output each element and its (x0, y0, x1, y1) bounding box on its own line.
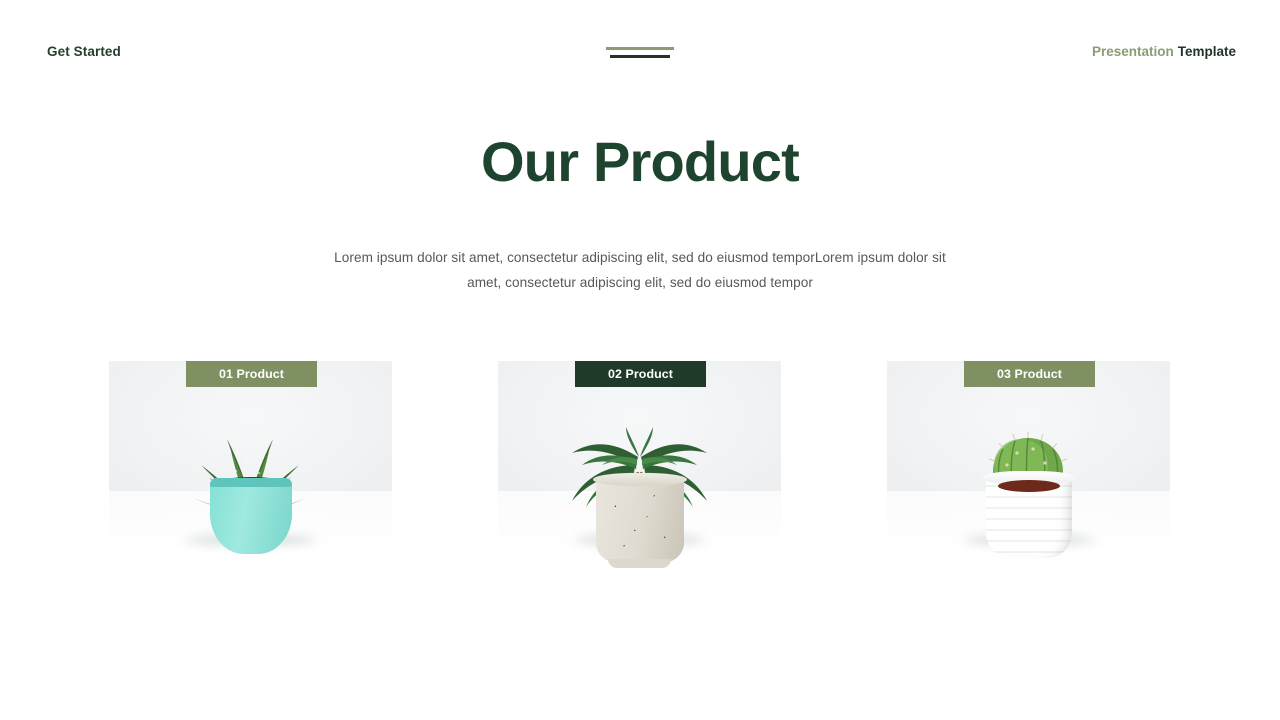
product-image-03: 03 Product (887, 361, 1170, 585)
product-badge-01[interactable]: 01 Product (186, 361, 317, 387)
double-line-divider-icon (606, 47, 674, 58)
product-badge-03[interactable]: 03 Product (964, 361, 1095, 387)
brand-word-presentation: Presentation (1092, 44, 1174, 59)
brand-wordmark: PresentationTemplate (1092, 44, 1236, 59)
product-badge-02[interactable]: 02 Product (575, 361, 706, 387)
mint-pot (210, 478, 292, 554)
slide-our-product: Get Started PresentationTemplate Our Pro… (0, 0, 1280, 720)
divider-line-top (606, 47, 674, 50)
pot-foot (608, 559, 671, 568)
slide-header: Get Started PresentationTemplate (0, 0, 1280, 104)
exposed-roots (603, 467, 677, 493)
subtitle-line-2: amet, consectetur adipiscing elit, sed d… (280, 270, 1000, 295)
subtitle-line-1: Lorem ipsum dolor sit amet, consectetur … (280, 245, 1000, 270)
page-subtitle: Lorem ipsum dolor sit amet, consectetur … (280, 245, 1000, 295)
product-image-01: 01 Product (109, 361, 392, 585)
product-card-02[interactable]: 02 Product (498, 361, 781, 585)
product-card-01[interactable]: 01 Product (109, 361, 392, 585)
product-image-02: 02 Product (498, 361, 781, 585)
brand-word-template: Template (1178, 44, 1236, 59)
divider-line-bottom (610, 55, 670, 58)
soil-surface (998, 480, 1060, 492)
page-title: Our Product (0, 130, 1280, 194)
get-started-label[interactable]: Get Started (47, 44, 121, 59)
product-card-row: 01 Product (0, 361, 1280, 585)
product-card-03[interactable]: 03 Product (887, 361, 1170, 585)
